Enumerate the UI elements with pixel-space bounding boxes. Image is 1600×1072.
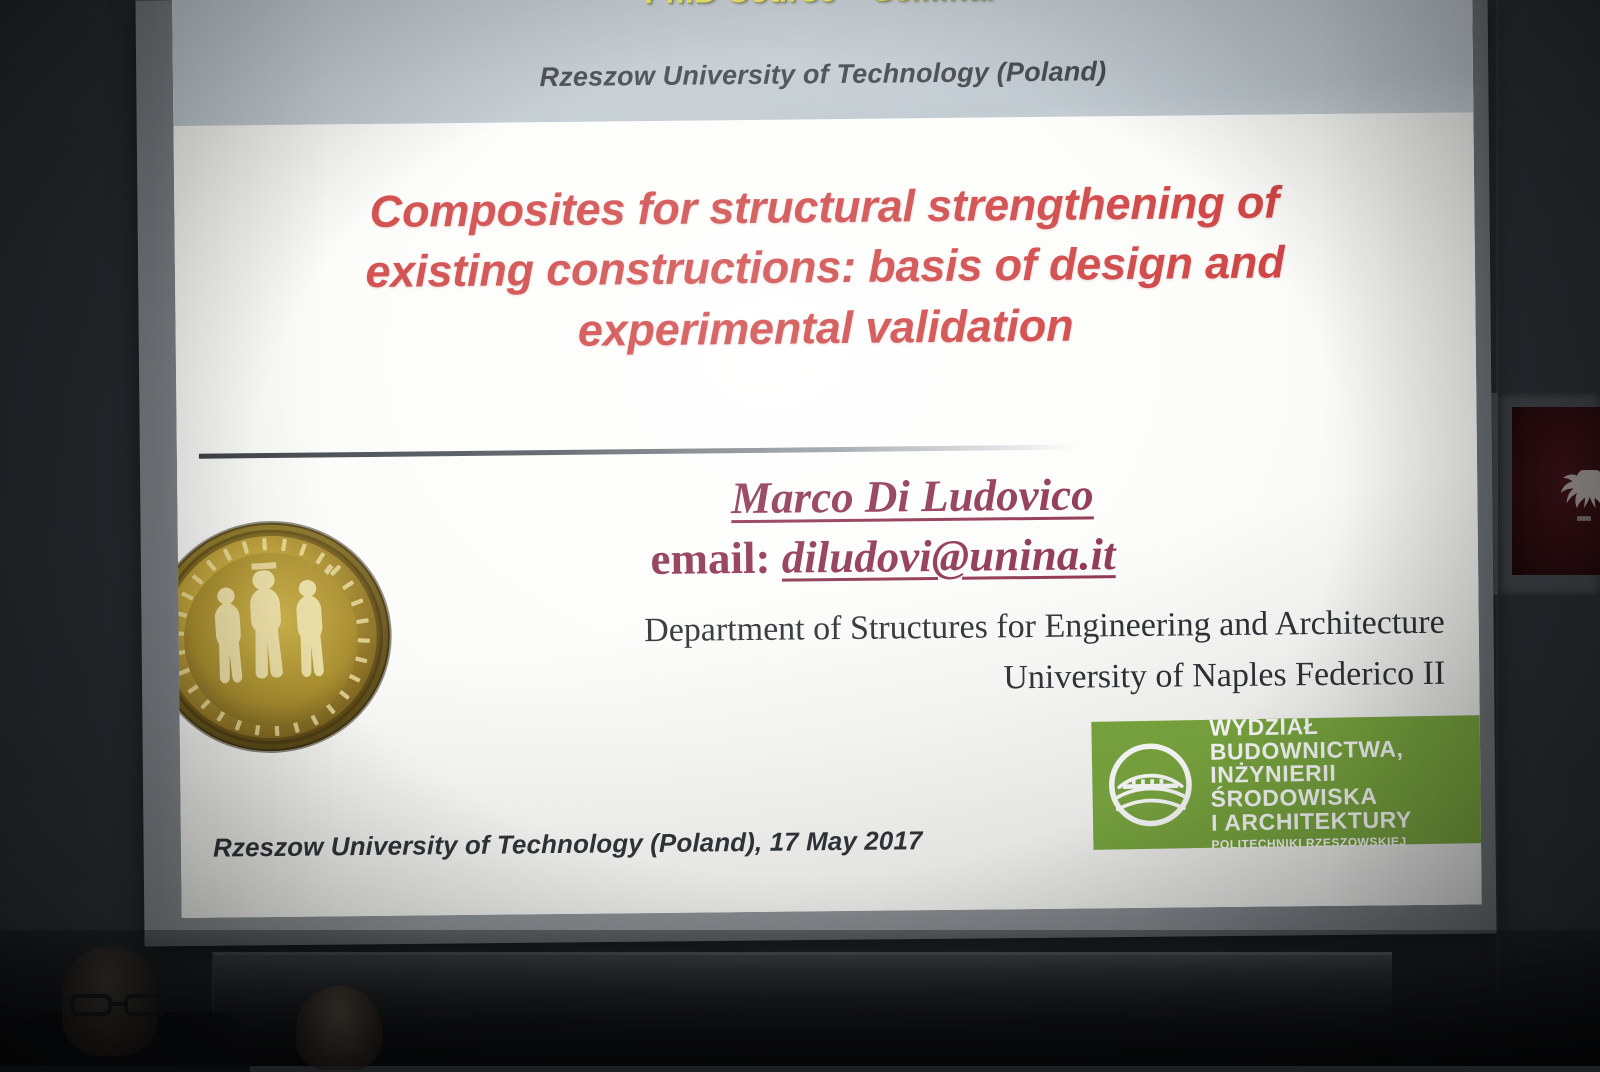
faculty-logo: WYDZIAŁ BUDOWNICTWA, INŻYNIERII ŚRODOWIS…	[1091, 715, 1481, 850]
lecture-room-background: Ph.D Course – Seminar Rzeszow University…	[0, 0, 1600, 1066]
whiteboard	[212, 952, 1392, 1066]
slide-title: Composites for structural strengthening …	[244, 171, 1406, 364]
presentation-slide: Ph.D Course – Seminar Rzeszow University…	[172, 0, 1482, 918]
wall-emblem-frame	[1489, 393, 1600, 595]
title-line-3: experimental validation	[245, 292, 1406, 364]
email-label: email:	[650, 533, 770, 584]
polish-eagle-emblem-icon	[1547, 461, 1600, 539]
wall-emblem-plate	[1512, 407, 1600, 575]
faculty-subline: POLITECHNIKI RZESZOWSKIEJ	[1211, 833, 1481, 851]
affiliation-line-2: University of Naples Federico II	[359, 648, 1445, 710]
slide-footer: Rzeszow University of Technology (Poland…	[213, 825, 923, 863]
title-line-2: existing constructions: basis of design …	[245, 231, 1406, 303]
faculty-line-4: I ARCHITEKTURY	[1211, 806, 1482, 835]
faculty-line-3: INŻYNIERII ŚRODOWISKA	[1210, 759, 1482, 812]
bridge-over-fields-circle-icon	[1104, 738, 1198, 832]
email-address[interactable]: diludovi@unina.it	[781, 529, 1115, 582]
projection-screen: Ph.D Course – Seminar Rzeszow University…	[172, 0, 1482, 918]
affiliation-block: Department of Structures for Engineering…	[359, 597, 1446, 710]
author-name: Marco Di Ludovico	[477, 466, 1347, 527]
eyeglasses-icon	[70, 992, 168, 1018]
author-email-line: email: diludovi@unina.it	[418, 526, 1348, 588]
attendee-right-head	[296, 986, 382, 1070]
faculty-logo-text: WYDZIAŁ BUDOWNICTWA, INŻYNIERII ŚRODOWIS…	[1209, 712, 1481, 851]
horizontal-divider-rule	[199, 445, 1079, 459]
